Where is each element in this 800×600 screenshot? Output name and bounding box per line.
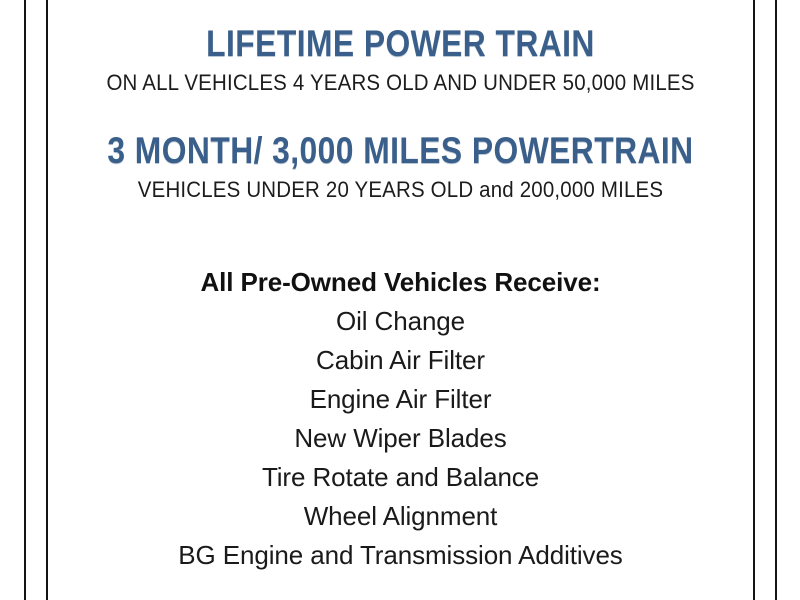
- service-item: BG Engine and Transmission Additives: [48, 536, 753, 575]
- promo-sheet: LIFETIME POWER TRAIN ON ALL VEHICLES 4 Y…: [48, 0, 753, 600]
- promo-block-3month-powertrain: 3 MONTH/ 3,000 MILES POWERTRAIN VEHICLES…: [48, 96, 753, 203]
- service-item: Engine Air Filter: [48, 380, 753, 419]
- promo-block-lifetime-powertrain: LIFETIME POWER TRAIN ON ALL VEHICLES 4 Y…: [48, 0, 753, 96]
- promo-headline-lifetime-powertrain: LIFETIME POWER TRAIN: [97, 23, 703, 64]
- promo-subtitle-lifetime-powertrain: ON ALL VEHICLES 4 YEARS OLD AND UNDER 50…: [73, 64, 729, 96]
- service-item: New Wiper Blades: [48, 419, 753, 458]
- service-item: Wheel Alignment: [48, 497, 753, 536]
- frame-rule-right-inner: [753, 0, 755, 600]
- service-item: Cabin Air Filter: [48, 341, 753, 380]
- services-section: All Pre-Owned Vehicles Receive: Oil Chan…: [48, 203, 753, 575]
- service-item: Tire Rotate and Balance: [48, 458, 753, 497]
- promo-subtitle-3month-powertrain: VEHICLES UNDER 20 YEARS OLD and 200,000 …: [73, 171, 729, 203]
- frame-rule-right-outer: [775, 0, 777, 600]
- services-heading: All Pre-Owned Vehicles Receive:: [48, 263, 753, 302]
- promo-headline-3month-powertrain: 3 MONTH/ 3,000 MILES POWERTRAIN: [97, 130, 703, 171]
- frame-rule-left-outer: [24, 0, 26, 600]
- service-item: Oil Change: [48, 302, 753, 341]
